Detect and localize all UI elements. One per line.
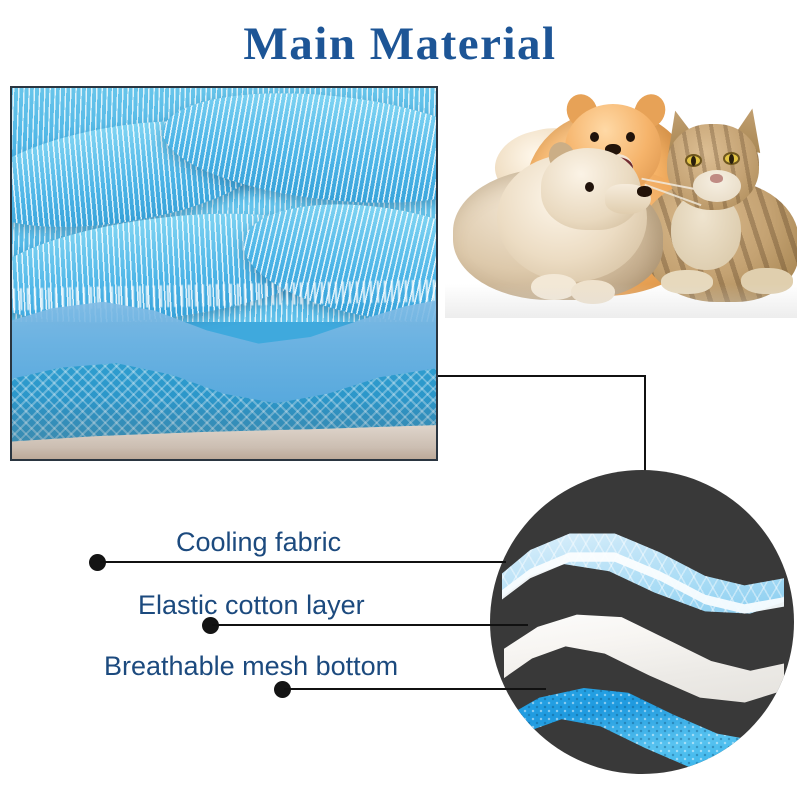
pomeranian-back-eye (590, 132, 599, 142)
cat-pupil (691, 156, 696, 166)
callout-label-cooling-fabric: Cooling fabric (176, 526, 341, 558)
cat-pupil (729, 154, 734, 164)
callout-leader-cooling-fabric (100, 561, 506, 563)
callout-label-elastic-cotton-layer: Elastic cotton layer (138, 589, 365, 621)
cat-nose (710, 174, 723, 183)
connector-line-vertical (644, 375, 646, 475)
fabric-photo-shadow (12, 399, 436, 459)
pomeranian-front-eye (585, 182, 594, 192)
callout-leader-breathable-mesh-bottom (284, 688, 546, 690)
layer-cooling-fabric (502, 524, 784, 642)
callout-leader-elastic-cotton-layer (212, 624, 528, 626)
pets-photo (445, 88, 797, 318)
layer-diagram-circle (490, 470, 794, 774)
pomeranian-back-eye (626, 132, 635, 142)
infographic-page: Main Material (0, 0, 800, 800)
connector-line-horizontal (438, 375, 646, 377)
fabric-closeup-photo (10, 86, 438, 461)
pomeranian-front-nose (637, 186, 652, 197)
callout-label-breathable-mesh-bottom: Breathable mesh bottom (104, 650, 398, 682)
page-title: Main Material (0, 14, 800, 74)
pets-ground-shadow (445, 284, 797, 318)
